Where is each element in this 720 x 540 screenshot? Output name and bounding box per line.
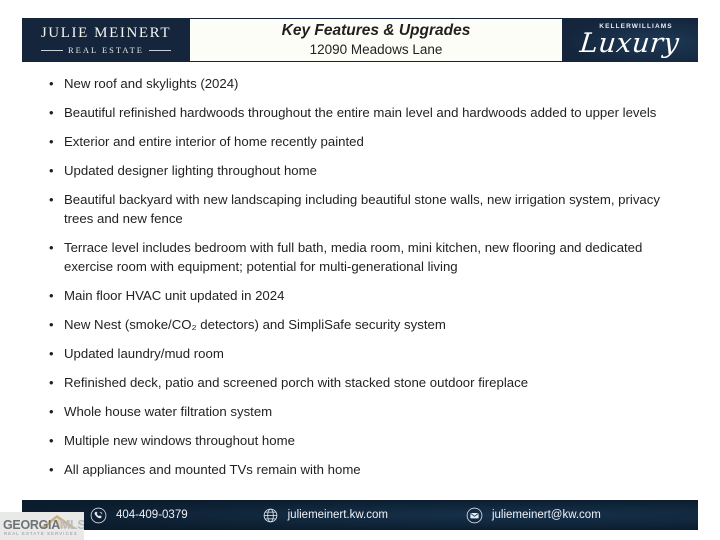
list-item: • Main floor HVAC unit updated in 2024 — [46, 286, 686, 305]
email-address: juliemeinert@kw.com — [492, 509, 601, 521]
list-item: • Refinished deck, patio and screened po… — [46, 373, 686, 392]
rule-left-icon — [41, 50, 63, 51]
phone-number: 404-409-0379 — [116, 509, 188, 521]
agent-subtitle: REAL ESTATE — [68, 46, 144, 55]
bullet-icon: • — [46, 161, 64, 180]
mls-tagline: REAL ESTATE SERVICES — [4, 532, 78, 536]
bullet-icon: • — [46, 286, 64, 305]
features-list: • New roof and skylights (2024) • Beauti… — [46, 74, 686, 489]
bullet-icon: • — [46, 190, 64, 209]
list-item-text: All appliances and mounted TVs remain wi… — [64, 460, 686, 479]
list-item-text: Updated laundry/mud room — [64, 344, 686, 363]
property-address: 12090 Meadows Lane — [310, 42, 443, 58]
contact-email[interactable]: juliemeinert@kw.com — [466, 507, 601, 524]
bullet-icon: • — [46, 460, 64, 479]
list-item-text: Terrace level includes bedroom with full… — [64, 238, 686, 276]
bullet-icon: • — [46, 74, 64, 93]
agent-logo: JULIE MEINERT REAL ESTATE — [22, 18, 190, 62]
bullet-icon: • — [46, 103, 64, 122]
bullet-icon: • — [46, 238, 64, 257]
mls-wordmark: GEORGIAMLS — [3, 519, 84, 532]
bullet-icon: • — [46, 431, 64, 450]
list-item: • Beautiful refinished hardwoods through… — [46, 103, 686, 122]
phone-icon — [90, 507, 107, 524]
agent-name: JULIE MEINERT — [41, 26, 171, 41]
list-item: • Whole house water filtration system — [46, 402, 686, 421]
list-item: • Multiple new windows throughout home — [46, 431, 686, 450]
kw-luxury-text: Luxury — [579, 32, 681, 56]
list-item-text: Refinished deck, patio and screened porc… — [64, 373, 686, 392]
list-item-text: Beautiful backyard with new landscaping … — [64, 190, 686, 228]
list-item-text: Multiple new windows throughout home — [64, 431, 686, 450]
title-panel: Key Features & Upgrades 12090 Meadows La… — [190, 18, 562, 62]
page-title: Key Features & Upgrades — [282, 22, 471, 40]
list-item-text: Whole house water filtration system — [64, 402, 686, 421]
bullet-icon: • — [46, 315, 64, 334]
keller-williams-luxury-logo: KELLERWILLIAMS Luxury — [562, 18, 698, 62]
bullet-icon: • — [46, 402, 64, 421]
list-item: • New Nest (smoke/CO₂ detectors) and Sim… — [46, 315, 686, 334]
footer-bar: 404-409-0379 juliemeinert.kw.com julieme… — [22, 500, 698, 530]
list-item: • Updated laundry/mud room — [46, 344, 686, 363]
contact-phone[interactable]: 404-409-0379 — [90, 507, 188, 524]
list-item-text: Updated designer lighting throughout hom… — [64, 161, 686, 180]
globe-icon — [262, 507, 279, 524]
list-item: • Beautiful backyard with new landscapin… — [46, 190, 686, 228]
bullet-icon: • — [46, 373, 64, 392]
bullet-icon: • — [46, 344, 64, 363]
list-item-text: Beautiful refinished hardwoods throughou… — [64, 103, 686, 122]
list-item: • All appliances and mounted TVs remain … — [46, 460, 686, 479]
list-item-text: New roof and skylights (2024) — [64, 74, 686, 93]
list-item: • Updated designer lighting throughout h… — [46, 161, 686, 180]
website-url: juliemeinert.kw.com — [288, 509, 388, 521]
list-item: • Terrace level includes bedroom with fu… — [46, 238, 686, 276]
list-item-text: Exterior and entire interior of home rec… — [64, 132, 686, 151]
rule-right-icon — [149, 50, 171, 51]
agent-subtitle-row: REAL ESTATE — [22, 46, 190, 55]
mls-name-secondary: MLS — [60, 518, 84, 532]
list-item: • Exterior and entire interior of home r… — [46, 132, 686, 151]
bullet-icon: • — [46, 132, 64, 151]
contact-website[interactable]: juliemeinert.kw.com — [262, 507, 388, 524]
header-bar: JULIE MEINERT REAL ESTATE Key Features &… — [22, 18, 698, 62]
mls-name-primary: GEORGIA — [3, 518, 60, 532]
envelope-icon — [466, 507, 483, 524]
list-item-text: New Nest (smoke/CO₂ detectors) and Simpl… — [64, 315, 686, 334]
georgia-mls-logo: GEORGIAMLS REAL ESTATE SERVICES — [0, 512, 84, 540]
list-item-text: Main floor HVAC unit updated in 2024 — [64, 286, 686, 305]
list-item: • New roof and skylights (2024) — [46, 74, 686, 93]
